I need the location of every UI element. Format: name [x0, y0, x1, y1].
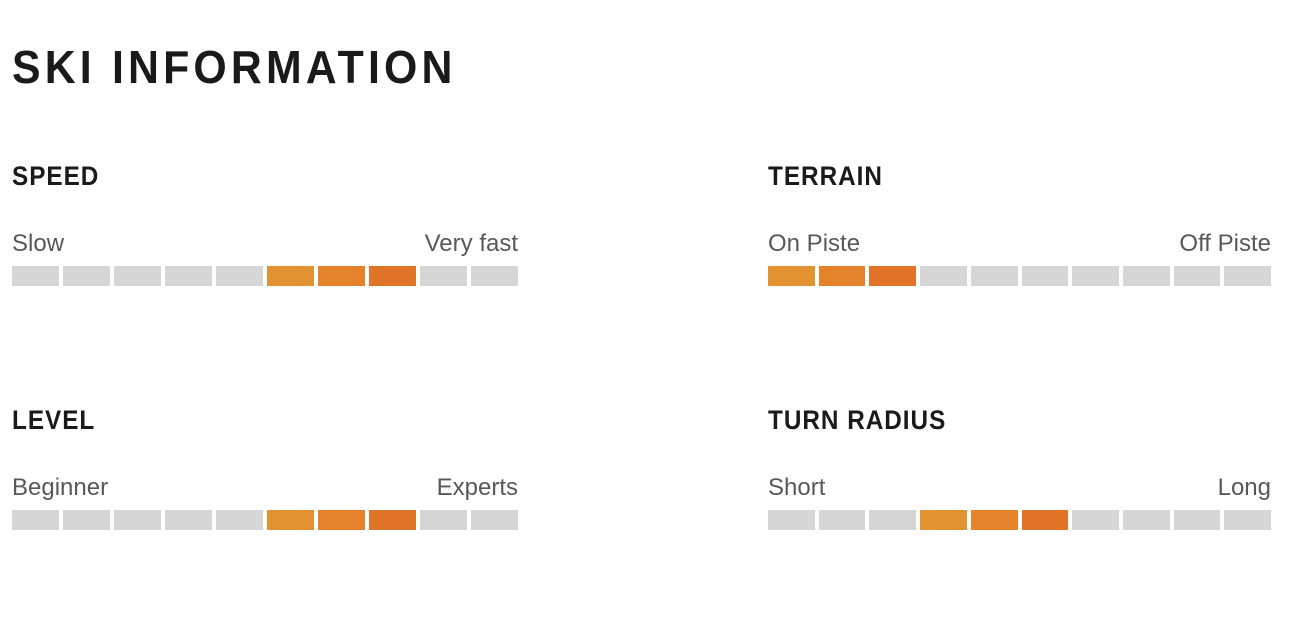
metric-title-terrain: TERRAIN: [768, 160, 1221, 192]
rating-segment: [165, 510, 212, 530]
metric-label-high-level: Experts: [437, 474, 518, 502]
rating-segment: [114, 266, 161, 286]
rating-segment: [267, 510, 314, 530]
rating-segment: [114, 510, 161, 530]
rating-segment: [1022, 510, 1069, 530]
metric-label-high-speed: Very fast: [425, 230, 518, 258]
rating-segment: [768, 510, 815, 530]
rating-segment: [369, 510, 416, 530]
rating-segment: [63, 510, 110, 530]
metric-bar-terrain: [768, 266, 1271, 286]
rating-segment: [920, 510, 967, 530]
metric-speed: SPEED Slow Very fast: [12, 160, 518, 286]
rating-segment: [768, 266, 815, 286]
rating-segment: [1123, 510, 1170, 530]
rating-segment: [318, 510, 365, 530]
metric-cell-speed: SPEED Slow Very fast: [0, 160, 768, 286]
metric-turn-radius: TURN RADIUS Short Long: [768, 404, 1271, 530]
metric-label-high-turn-radius: Long: [1218, 474, 1271, 502]
page-title: SKI INFORMATION: [12, 39, 457, 95]
rating-segment: [1224, 266, 1271, 286]
rating-segment: [12, 510, 59, 530]
rating-segment: [216, 266, 263, 286]
rating-segment: [63, 266, 110, 286]
metric-scale-labels-turn-radius: Short Long: [768, 474, 1271, 502]
ski-information-page: SKI INFORMATION SPEED Slow Very fast TER…: [0, 0, 1296, 628]
metric-level: LEVEL Beginner Experts: [12, 404, 518, 530]
rating-segment: [819, 510, 866, 530]
rating-segment: [318, 266, 365, 286]
metrics-row-bottom: LEVEL Beginner Experts TURN RADIUS Short…: [0, 404, 1296, 530]
rating-segment: [869, 266, 916, 286]
rating-segment: [1022, 266, 1069, 286]
rating-segment: [267, 266, 314, 286]
metric-bar-level: [12, 510, 518, 530]
metric-title-speed: SPEED: [12, 160, 467, 192]
rating-segment: [471, 266, 518, 286]
metric-label-high-terrain: Off Piste: [1179, 230, 1271, 258]
metric-bar-speed: [12, 266, 518, 286]
rating-segment: [971, 510, 1018, 530]
rating-segment: [1123, 266, 1170, 286]
metric-scale-labels-level: Beginner Experts: [12, 474, 518, 502]
metric-label-low-level: Beginner: [12, 474, 108, 502]
metric-cell-turn-radius: TURN RADIUS Short Long: [768, 404, 1296, 530]
metric-label-low-terrain: On Piste: [768, 230, 860, 258]
metrics-row-top: SPEED Slow Very fast TERRAIN On Piste Of…: [0, 160, 1296, 286]
rating-segment: [971, 266, 1018, 286]
metric-cell-level: LEVEL Beginner Experts: [0, 404, 768, 530]
metric-cell-terrain: TERRAIN On Piste Off Piste: [768, 160, 1296, 286]
metrics-grid: SPEED Slow Very fast TERRAIN On Piste Of…: [0, 160, 1296, 530]
rating-segment: [420, 266, 467, 286]
rating-segment: [420, 510, 467, 530]
rating-segment: [1174, 266, 1221, 286]
metric-bar-turn-radius: [768, 510, 1271, 530]
metric-title-level: LEVEL: [12, 404, 467, 436]
rating-segment: [1072, 266, 1119, 286]
metric-scale-labels-terrain: On Piste Off Piste: [768, 230, 1271, 258]
metric-title-turn-radius: TURN RADIUS: [768, 404, 1221, 436]
metric-scale-labels-speed: Slow Very fast: [12, 230, 518, 258]
rating-segment: [165, 266, 212, 286]
metric-terrain: TERRAIN On Piste Off Piste: [768, 160, 1271, 286]
rating-segment: [369, 266, 416, 286]
rating-segment: [216, 510, 263, 530]
rating-segment: [819, 266, 866, 286]
metric-label-low-turn-radius: Short: [768, 474, 825, 502]
rating-segment: [1174, 510, 1221, 530]
rating-segment: [920, 266, 967, 286]
metric-label-low-speed: Slow: [12, 230, 64, 258]
rating-segment: [471, 510, 518, 530]
rating-segment: [1072, 510, 1119, 530]
rating-segment: [1224, 510, 1271, 530]
rating-segment: [12, 266, 59, 286]
rating-segment: [869, 510, 916, 530]
